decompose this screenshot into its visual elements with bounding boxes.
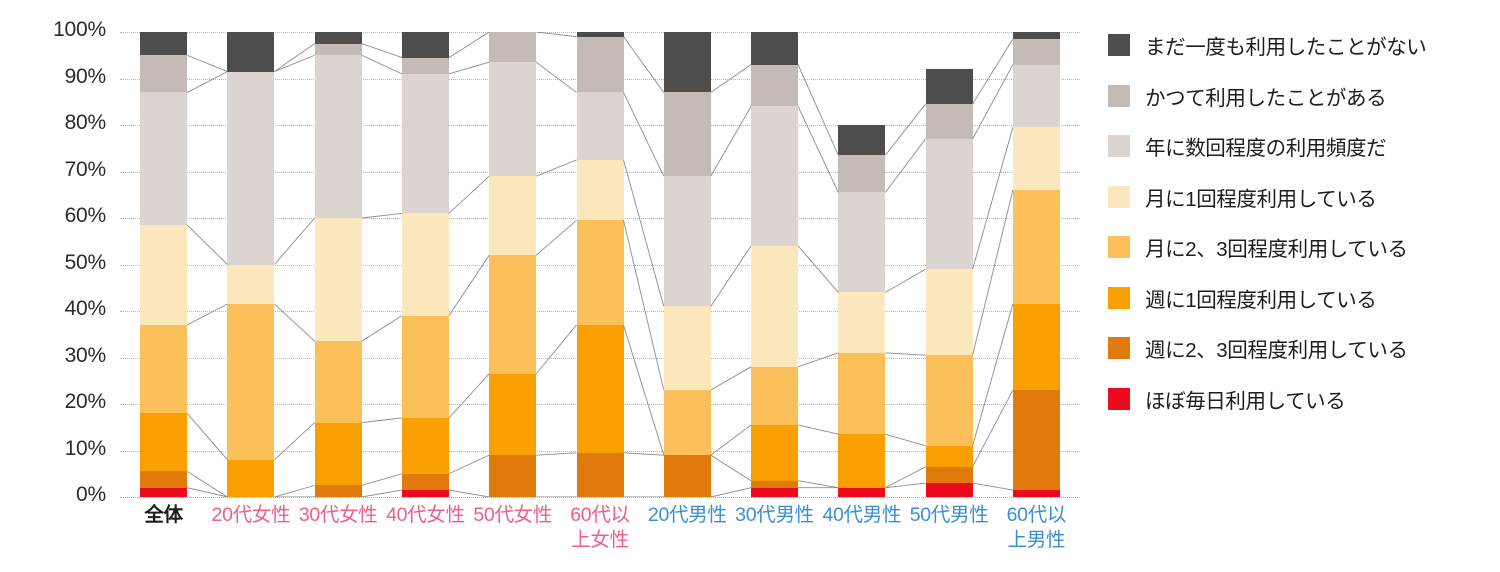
bar-segment xyxy=(838,125,885,155)
bar-segment xyxy=(751,367,798,425)
bar-segment xyxy=(402,32,449,58)
bar-segment xyxy=(315,44,362,56)
bar-segment xyxy=(140,325,187,413)
bar-segment xyxy=(402,213,449,315)
bar-segment xyxy=(838,155,885,192)
bar-segment xyxy=(751,106,798,246)
bar-segment xyxy=(140,55,187,92)
bar-segment xyxy=(664,92,711,176)
legend-item-label: 週に2、3回程度利用している xyxy=(1145,333,1408,363)
legend-item-label: 年に数回程度の利用頻度だ xyxy=(1145,131,1386,161)
legend-item-label: 月に2、3回程度利用している xyxy=(1145,232,1408,262)
bar-female-4 xyxy=(489,32,536,497)
x-axis-label-10: 60代以上男性 xyxy=(971,503,1101,553)
bar-segment xyxy=(664,306,711,390)
bar-segment xyxy=(315,55,362,218)
bar-segment xyxy=(1013,39,1060,65)
legend-item-5[interactable]: 週に1回程度利用している xyxy=(1108,273,1500,324)
bar-segment xyxy=(838,353,885,434)
y-axis-tick-label: 70% xyxy=(8,158,106,182)
bar-segment xyxy=(402,418,449,474)
bar-segment xyxy=(402,316,449,418)
legend-item-4[interactable]: 月に2、3回程度利用している xyxy=(1108,222,1500,273)
y-axis-tick-label: 50% xyxy=(8,251,106,275)
legend-swatch-icon xyxy=(1108,236,1130,258)
legend-swatch-icon xyxy=(1108,337,1130,359)
bar-female-1 xyxy=(227,32,274,497)
y-axis-tick-label: 30% xyxy=(8,344,106,368)
bar-segment xyxy=(227,72,274,265)
legend-swatch-icon xyxy=(1108,135,1130,157)
bar-segment xyxy=(664,32,711,92)
bar-segment xyxy=(140,488,187,497)
bar-segment xyxy=(227,460,274,497)
gridline xyxy=(120,497,1080,498)
plot-area xyxy=(120,32,1080,497)
y-axis-tick-label: 10% xyxy=(8,437,106,461)
bar-male-6 xyxy=(664,32,711,497)
bar-segment xyxy=(577,32,624,37)
bar-segment xyxy=(751,65,798,107)
legend-swatch-icon xyxy=(1108,34,1130,56)
bar-segment xyxy=(402,490,449,497)
bar-segment xyxy=(315,218,362,341)
bar-segment xyxy=(751,425,798,481)
bar-segment xyxy=(926,269,973,355)
bar-segment xyxy=(1013,127,1060,190)
bar-segment xyxy=(926,483,973,497)
bar-segment xyxy=(140,471,187,487)
legend-swatch-icon xyxy=(1108,287,1130,309)
y-axis-tick-label: 60% xyxy=(8,204,106,228)
bar-segment xyxy=(227,32,274,72)
bar-male-8 xyxy=(838,32,885,497)
bar-segment xyxy=(664,455,711,497)
bar-segment xyxy=(838,488,885,497)
bar-female-5 xyxy=(577,32,624,497)
bar-segment xyxy=(926,467,973,483)
bar-segment xyxy=(489,455,536,497)
bar-segment xyxy=(838,192,885,292)
legend-item-label: まだ一度も利用したことがない xyxy=(1145,30,1426,60)
bar-segment xyxy=(751,32,798,65)
bar-segment xyxy=(1013,390,1060,490)
bar-male-7 xyxy=(751,32,798,497)
y-axis-tick-label: 0% xyxy=(8,483,106,507)
y-axis-tick-label: 20% xyxy=(8,390,106,414)
bar-segment xyxy=(489,62,536,176)
legend-item-1[interactable]: かつて利用したことがある xyxy=(1108,71,1500,122)
bar-segment xyxy=(1013,190,1060,304)
bar-segment xyxy=(489,374,536,455)
bar-segment xyxy=(1013,490,1060,497)
bar-segment xyxy=(140,225,187,325)
legend-swatch-icon xyxy=(1108,186,1130,208)
bar-segment xyxy=(751,246,798,367)
y-axis-tick-label: 80% xyxy=(8,111,106,135)
legend: まだ一度も利用したことがないかつて利用したことがある年に数回程度の利用頻度だ月に… xyxy=(1108,20,1500,424)
bar-segment xyxy=(315,485,362,497)
bar-segment xyxy=(926,69,973,104)
bar-segment xyxy=(489,176,536,255)
bar-segment xyxy=(140,413,187,471)
bar-segment xyxy=(489,255,536,374)
bar-segment xyxy=(140,32,187,55)
legend-item-2[interactable]: 年に数回程度の利用頻度だ xyxy=(1108,121,1500,172)
bar-segment xyxy=(926,104,973,139)
bar-segment xyxy=(926,355,973,446)
bar-total-0 xyxy=(140,32,187,497)
bar-segment xyxy=(1013,32,1060,39)
bar-segment xyxy=(664,390,711,455)
bar-segment xyxy=(315,341,362,422)
bar-segment xyxy=(489,32,536,62)
bar-segment xyxy=(402,74,449,214)
legend-item-label: ほぼ毎日利用している xyxy=(1145,384,1345,414)
legend-item-0[interactable]: まだ一度も利用したことがない xyxy=(1108,20,1500,71)
bar-segment xyxy=(402,474,449,490)
legend-item-6[interactable]: 週に2、3回程度利用している xyxy=(1108,323,1500,374)
bar-segment xyxy=(926,139,973,269)
legend-item-7[interactable]: ほぼ毎日利用している xyxy=(1108,374,1500,425)
bar-segment xyxy=(1013,304,1060,390)
bar-male-10 xyxy=(1013,32,1060,497)
bar-female-2 xyxy=(315,32,362,497)
bar-female-3 xyxy=(402,32,449,497)
legend-item-label: 週に1回程度利用している xyxy=(1145,283,1377,313)
bar-segment xyxy=(751,481,798,488)
bar-segment xyxy=(664,176,711,306)
legend-item-label: 月に1回程度利用している xyxy=(1145,182,1377,212)
bar-segment xyxy=(926,446,973,467)
bar-segment xyxy=(315,423,362,486)
bar-segment xyxy=(140,92,187,225)
y-axis-tick-label: 100% xyxy=(8,18,106,42)
bar-segment xyxy=(577,220,624,325)
bar-segment xyxy=(227,265,274,305)
bar-segment xyxy=(577,325,624,453)
legend-item-label: かつて利用したことがある xyxy=(1145,81,1386,111)
bar-segment xyxy=(838,292,885,352)
chart-root: 0%10%20%30%40%50%60%70%80%90%100% 全体20代女… xyxy=(0,0,1500,572)
bar-male-9 xyxy=(926,32,973,497)
bar-segment xyxy=(577,453,624,497)
bar-segment xyxy=(227,304,274,460)
bar-segment xyxy=(402,58,449,74)
bar-segment xyxy=(577,160,624,220)
bar-segment xyxy=(838,434,885,487)
bar-segment xyxy=(315,32,362,44)
y-axis-tick-label: 40% xyxy=(8,297,106,321)
bar-segment xyxy=(751,488,798,497)
legend-swatch-icon xyxy=(1108,388,1130,410)
legend-item-3[interactable]: 月に1回程度利用している xyxy=(1108,172,1500,223)
bar-segment xyxy=(577,92,624,159)
bar-segment xyxy=(1013,65,1060,128)
bar-segment xyxy=(577,37,624,93)
y-axis-tick-label: 90% xyxy=(8,65,106,89)
legend-swatch-icon xyxy=(1108,85,1130,107)
